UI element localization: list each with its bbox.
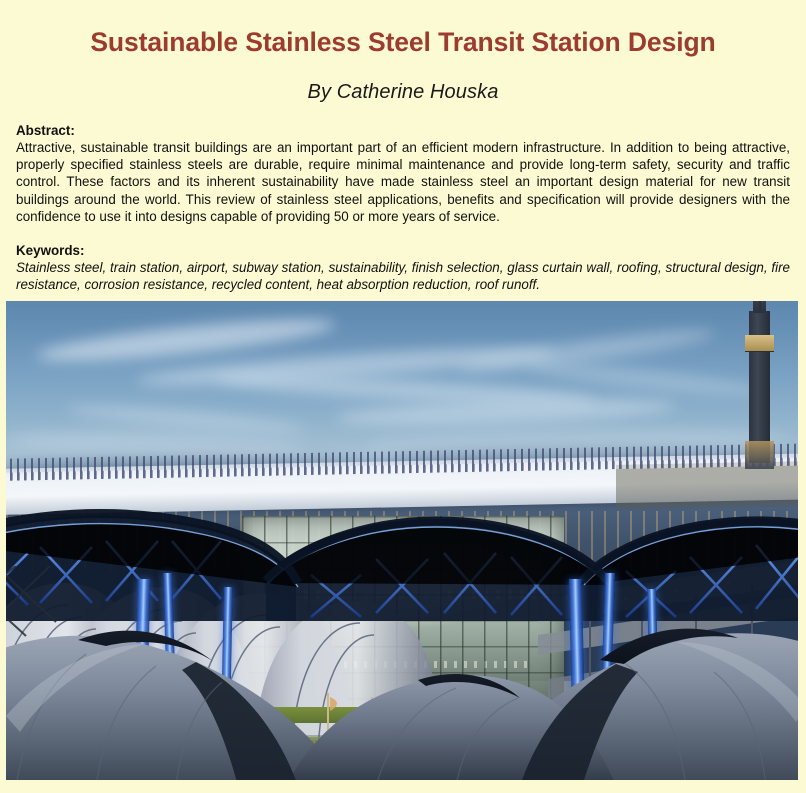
author-byline: By Catherine Houska (0, 81, 806, 104)
abstract-text: Attractive, sustainable transit building… (16, 139, 790, 225)
page-title: Sustainable Stainless Steel Transit Stat… (0, 18, 806, 57)
keywords-label: Keywords: (16, 242, 790, 259)
canopy-left (6, 635, 346, 779)
abstract-and-keywords: Abstract: Attractive, sustainable transi… (16, 122, 790, 307)
document-page: Sustainable Stainless Steel Transit Stat… (0, 18, 806, 793)
control-tower-base (745, 441, 774, 469)
left-frame-truss (6, 566, 56, 636)
keywords-text: Stainless steel, train station, airport,… (16, 259, 790, 293)
tower-mast (759, 301, 761, 313)
abstract-label: Abstract: (16, 122, 790, 139)
photo-canvas (6, 301, 798, 780)
transit-station-photograph: Night-time aerial photograph of a large … (6, 301, 798, 780)
keywords-section: Keywords: Stainless steel, train station… (16, 242, 790, 294)
foreground-fabric-canopies (6, 566, 798, 780)
